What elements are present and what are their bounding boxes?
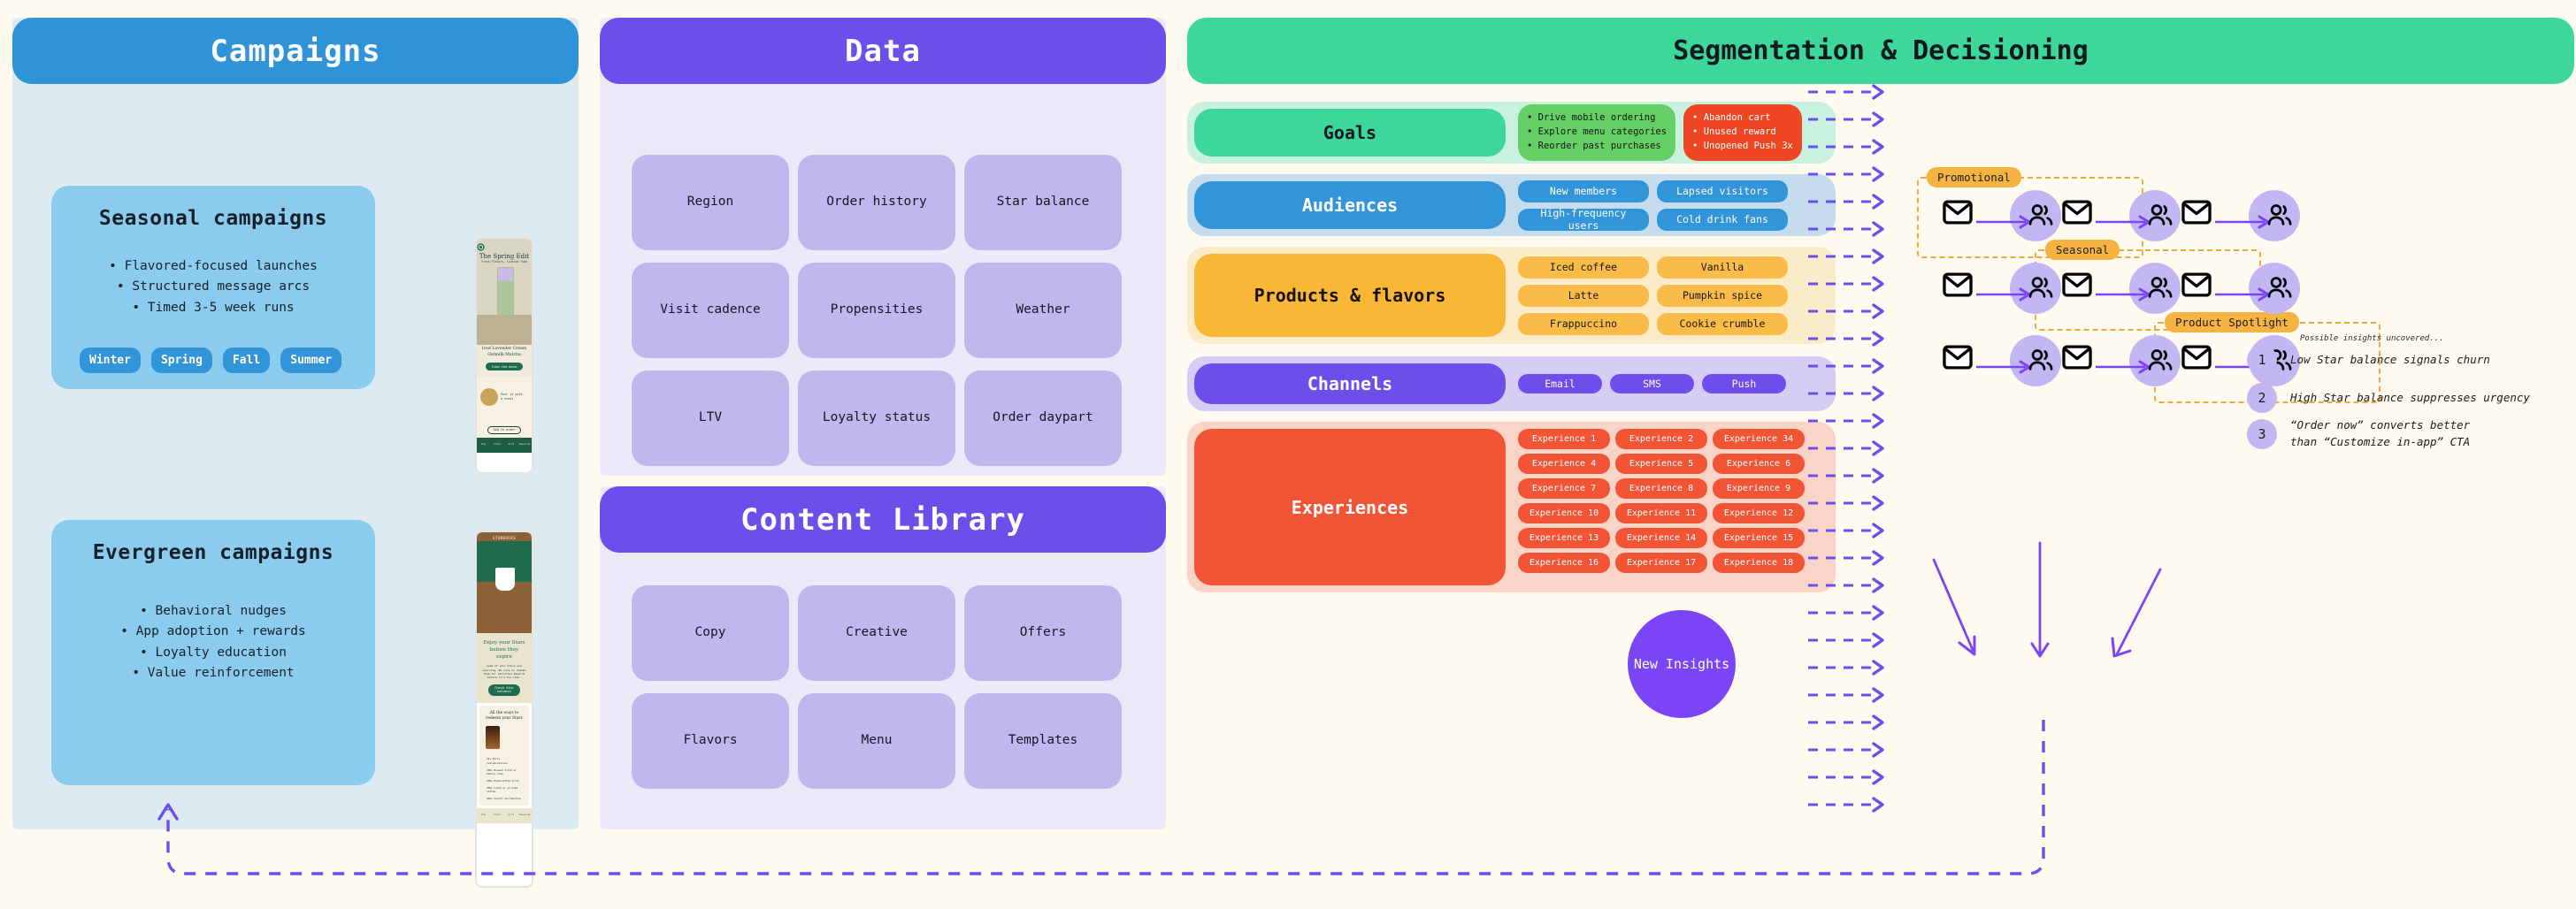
people-icon [2145, 201, 2175, 231]
product-chip[interactable]: Iced coffee [1518, 256, 1649, 279]
insight-converging-arrows [1893, 531, 2194, 645]
channel-chip[interactable]: Email [1518, 374, 1602, 393]
data-tile[interactable]: Visit cadence [632, 263, 789, 358]
insight-text: High Star balance suppresses urgency [2290, 390, 2530, 407]
mockup-footer-nav: Pay Order Gift Rewards [477, 438, 532, 453]
channel-chip[interactable]: SMS [1610, 374, 1694, 393]
journey-flow[interactable] [2176, 190, 2300, 241]
envelope-icon [2176, 340, 2217, 374]
people-icon [2145, 273, 2175, 303]
channel-chip[interactable]: Push [1702, 374, 1786, 393]
experience-chip[interactable]: Experience 15 [1713, 528, 1805, 548]
season-chip-row: Winter Spring Fall Summer [80, 348, 341, 373]
journey-group-label-seasonal[interactable]: Seasonal [2045, 240, 2120, 260]
mockup-headline: Enjoy your Stars before they expire [479, 638, 529, 662]
experience-chip[interactable]: Experience 9 [1713, 478, 1805, 499]
journey-flow[interactable] [2057, 190, 2181, 241]
insight-text: Low Star balance signals churn [2290, 352, 2490, 369]
campaigns-header: Campaigns [12, 18, 579, 84]
experience-chip[interactable]: Experience 5 [1615, 454, 1707, 474]
bullet: • App adoption + rewards [51, 622, 375, 642]
data-header: Data [600, 18, 1166, 84]
campaign-card-title: Seasonal campaigns [51, 207, 375, 230]
envelope-icon [2176, 268, 2217, 302]
data-tile[interactable]: Order daypart [964, 370, 1122, 466]
footer-item[interactable]: Pay [477, 438, 491, 453]
goal-line: • Abandon cart [1692, 111, 1793, 126]
product-chip[interactable]: Frappuccino [1518, 313, 1649, 335]
experience-chip[interactable]: Experience 11 [1615, 503, 1707, 523]
data-tile[interactable]: Region [632, 155, 789, 250]
journey-flow[interactable] [2057, 335, 2181, 386]
bullet: • Loyalty education [51, 643, 375, 663]
experience-chip[interactable]: Experience 12 [1713, 503, 1805, 523]
experience-chip[interactable]: Experience 13 [1518, 528, 1610, 548]
journey-group-label-product-spotlight[interactable]: Product Spotlight [2165, 312, 2299, 332]
bullet: • Structured message arcs [51, 277, 375, 297]
mockup-secondary-headline: Pair it with a treat [498, 391, 528, 403]
envelope-icon [2057, 340, 2097, 374]
library-tile[interactable]: Creative [798, 585, 955, 681]
journey-flow[interactable] [1937, 335, 2061, 386]
product-chip[interactable]: Pumpkin spice [1657, 285, 1788, 307]
people-icon [2265, 273, 2295, 303]
mockup-cta-button[interactable]: View the menu [486, 363, 523, 370]
envelope-icon [2176, 195, 2217, 229]
footer-item[interactable]: Rewards [518, 438, 533, 453]
season-chip[interactable]: Fall [223, 348, 270, 373]
journey-flow[interactable] [1937, 190, 2061, 241]
insight-number: 3 [2247, 419, 2277, 449]
insight-item[interactable]: 1 Low Star balance signals churn [2247, 345, 2490, 375]
experience-chip[interactable]: Experience 8 [1615, 478, 1707, 499]
insight-item[interactable]: 3 “Order now” converts better than “Cust… [2247, 417, 2498, 451]
people-icon [2026, 201, 2056, 231]
experience-chip[interactable]: Experience 16 [1518, 553, 1610, 573]
journey-flow[interactable] [2057, 263, 2181, 314]
segmentation-row-experiences: Experiences Experience 1 Experience 2 Ex… [1187, 422, 1836, 592]
mockup-brand: STARBUCKS [477, 532, 532, 540]
audience-chip-group: New members Lapsed visitors High-frequen… [1518, 180, 1810, 231]
envelope-icon [2057, 268, 2097, 302]
mug-illustration [495, 568, 515, 591]
mockup-secondary-cta[interactable]: Add to order [487, 426, 522, 434]
row-label-audiences[interactable]: Audiences [1194, 181, 1506, 229]
segmentation-row-channels: Channels Email SMS Push [1187, 356, 1836, 411]
product-chip[interactable]: Vanilla [1657, 256, 1788, 279]
data-tile[interactable]: Weather [964, 263, 1122, 358]
journey-flow[interactable] [2176, 263, 2300, 314]
pastry-thumbnail [480, 388, 498, 406]
starbucks-logo-icon [477, 243, 485, 251]
season-chip[interactable]: Summer [280, 348, 341, 373]
goal-chip-group: • Drive mobile ordering • Explore menu c… [1518, 104, 1802, 160]
journey-flow[interactable] [1937, 263, 2061, 314]
bullet: • Value reinforcement [51, 663, 375, 684]
mockup-headline: The Spring Edit [477, 253, 532, 260]
row-label-experiences[interactable]: Experiences [1194, 429, 1506, 585]
row-label-channels[interactable]: Channels [1194, 363, 1506, 404]
mockup-subhead: Fresh flavors, limited time [477, 260, 532, 264]
product-chip[interactable]: Cookie crumble [1657, 313, 1788, 335]
segmentation-row-products: Products & flavors Iced coffee Vanilla L… [1187, 247, 1836, 344]
content-library-header: Content Library [600, 486, 1166, 553]
journey-group-label-promotional[interactable]: Promotional [1927, 167, 2021, 187]
experience-chip[interactable]: Experience 7 [1518, 478, 1610, 499]
data-tile-grid: Region Order history Star balance Visit … [632, 155, 1134, 466]
mockup-cta-button[interactable]: Check Star balance [488, 684, 520, 696]
campaign-card-title: Evergreen campaigns [51, 541, 375, 564]
data-tile[interactable]: Loyalty status [798, 370, 955, 466]
envelope-icon [1937, 195, 1978, 229]
data-tile[interactable]: LTV [632, 370, 789, 466]
data-tile[interactable]: Propensities [798, 263, 955, 358]
segmentation-row-goals: Goals • Drive mobile ordering • Explore … [1187, 102, 1836, 164]
goal-line: • Unused reward [1692, 126, 1793, 140]
row-label-goals[interactable]: Goals [1194, 109, 1506, 157]
goal-chip[interactable]: • Drive mobile ordering • Explore menu c… [1518, 104, 1675, 160]
row-label-products[interactable]: Products & flavors [1194, 254, 1506, 337]
season-chip[interactable]: Winter [80, 348, 141, 373]
envelope-icon [2057, 195, 2097, 229]
people-icon [2265, 201, 2295, 231]
envelope-icon [1937, 268, 1978, 302]
audience-chip[interactable]: Lapsed visitors [1657, 180, 1788, 202]
envelope-icon [1937, 340, 1978, 374]
segmentation-header: Segmentation & Decisioning [1187, 18, 2574, 84]
footer-item[interactable]: Order [491, 438, 505, 453]
bullet: • Behavioral nudges [51, 601, 375, 622]
goal-line: • Drive mobile ordering [1527, 111, 1667, 126]
channel-chip-group: Email SMS Push [1518, 374, 1786, 393]
experience-chip[interactable]: Experience 4 [1518, 454, 1610, 474]
goal-line: • Explore menu categories [1527, 126, 1667, 140]
insight-number: 1 [2247, 345, 2277, 375]
experience-chip[interactable]: Experience 14 [1615, 528, 1707, 548]
mockup-product: Iced Lavender Cream Oatmilk Matcha [477, 345, 532, 360]
season-chip[interactable]: Spring [151, 348, 212, 373]
people-icon [2145, 346, 2175, 376]
data-tile[interactable]: Order history [798, 155, 955, 250]
library-tile[interactable]: Copy [632, 585, 789, 681]
experience-chip[interactable]: Experience 1 [1518, 429, 1610, 449]
experience-chip[interactable]: Experience 34 [1713, 429, 1805, 449]
insights-title: Possible insights uncovered... [2300, 334, 2444, 343]
segmentation-row-audiences: Audiences New members Lapsed visitors Hi… [1187, 174, 1836, 236]
diagram-canvas: Campaigns Seasonal campaigns • Flavored-… [0, 0, 2576, 909]
experience-chip[interactable]: Experience 2 [1615, 429, 1707, 449]
bullet: • Flavored-focused launches [51, 256, 375, 277]
campaign-card-bullets: • Flavored-focused launches • Structured… [51, 256, 375, 318]
library-tile[interactable]: Offers [964, 585, 1122, 681]
data-column: Data Region Order history Star balance V… [600, 18, 1166, 476]
experience-chip-group: Experience 1 Experience 2 Experience 34 … [1518, 429, 1819, 573]
goal-line: • Reorder past purchases [1527, 140, 1667, 154]
goal-line: • Unopened Push 3x [1692, 140, 1793, 154]
experience-chip[interactable]: Experience 17 [1615, 553, 1707, 573]
audience-chip[interactable]: Cold drink fans [1657, 209, 1788, 231]
new-insights-node[interactable]: New Insights [1628, 610, 1736, 718]
feedback-loop-arrow [142, 716, 2194, 909]
beverage-illustration [497, 267, 514, 318]
insight-item[interactable]: 2 High Star balance suppresses urgency [2247, 383, 2530, 413]
audience-chip[interactable]: New members [1518, 180, 1649, 202]
footer-item[interactable]: Gift [504, 438, 518, 453]
campaign-card-bullets: • Behavioral nudges • App adoption + rew… [51, 601, 375, 684]
email-creative-mockup-spring[interactable]: The Spring Edit Fresh flavors, limited t… [475, 237, 533, 474]
campaigns-column: Campaigns Seasonal campaigns • Flavored-… [12, 18, 579, 829]
experience-chip[interactable]: Experience 6 [1713, 454, 1805, 474]
product-chip-group: Iced coffee Vanilla Latte Pumpkin spice … [1518, 256, 1810, 335]
audience-chip[interactable]: High-frequency users [1518, 209, 1649, 231]
insight-number: 2 [2247, 383, 2277, 413]
people-icon [2026, 273, 2056, 303]
experience-chip[interactable]: Experience 10 [1518, 503, 1610, 523]
bullet: • Timed 3-5 week runs [51, 298, 375, 318]
goal-chip[interactable]: • Abandon cart • Unused reward • Unopene… [1683, 104, 1802, 160]
mockup-subhead: Some of your Stars are expiring. Be sure… [479, 662, 529, 681]
people-icon [2026, 346, 2056, 376]
campaign-card-seasonal[interactable]: Seasonal campaigns • Flavored-focused la… [51, 186, 375, 389]
insight-text: “Order now” converts better than “Custom… [2290, 417, 2498, 451]
data-tile[interactable]: Star balance [964, 155, 1122, 250]
product-chip[interactable]: Latte [1518, 285, 1649, 307]
experience-chip[interactable]: Experience 18 [1713, 553, 1805, 573]
